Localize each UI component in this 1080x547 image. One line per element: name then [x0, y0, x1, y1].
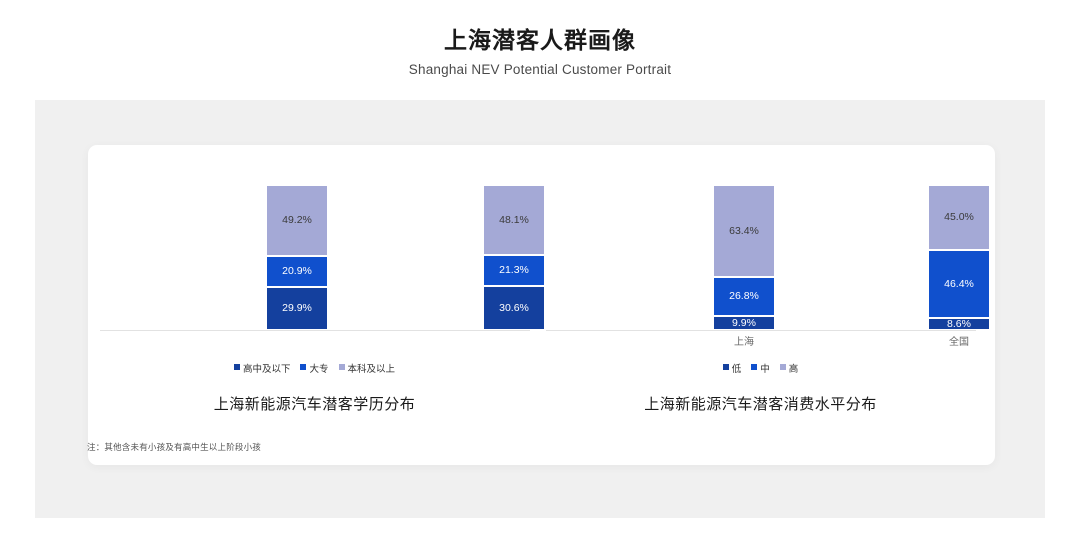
legend-swatch-icon [234, 364, 240, 370]
bar-value-label: 8.6% [947, 319, 971, 330]
plot-area-consumption: 63.4%26.8%9.9% 45.0%46.4%8.6% [538, 185, 983, 330]
legend-label: 中 [760, 364, 770, 375]
bar-group[interactable]: 49.2%20.9%29.9% [266, 185, 328, 330]
chart-caption: 上海新能源汽车潜客学历分布 [92, 393, 537, 414]
bar-group[interactable]: 45.0%46.4%8.6% [928, 185, 990, 330]
bar-segment[interactable]: 26.8% [713, 277, 775, 316]
bar-segment[interactable]: 48.1% [483, 185, 545, 255]
bar-segment[interactable]: 49.2% [266, 185, 328, 256]
bar-segment[interactable]: 20.9% [266, 256, 328, 286]
bar-value-label: 9.9% [732, 318, 756, 329]
bar-segment[interactable]: 63.4% [713, 185, 775, 277]
bar-segment[interactable]: 29.9% [266, 287, 328, 330]
legend-swatch-icon [723, 364, 729, 370]
chart-caption: 上海新能源汽车潜客消费水平分布 [538, 393, 983, 414]
chart-education: 49.2%20.9%29.9% 48.1%21.3%30.6% 高中及以下 大专… [92, 145, 537, 465]
bar-value-label: 45.0% [944, 212, 974, 223]
axis-line [100, 330, 530, 331]
legend-label: 高中及以下 [243, 364, 291, 375]
legend-label: 大专 [309, 364, 328, 375]
bar-segment[interactable]: 45.0% [928, 185, 990, 250]
bar-group[interactable]: 48.1%21.3%30.6% [483, 185, 545, 330]
chart-consumption: 63.4%26.8%9.9% 45.0%46.4%8.6% 上海 全国 低 中 … [538, 145, 983, 465]
page-header: 上海潜客人群画像 Shanghai NEV Potential Customer… [0, 0, 1080, 77]
bar-value-label: 21.3% [499, 265, 529, 276]
legend-item[interactable]: 低 [723, 361, 742, 375]
content-panel: 49.2%20.9%29.9% 48.1%21.3%30.6% 高中及以下 大专… [35, 100, 1045, 518]
legend-item[interactable]: 高中及以下 [234, 361, 291, 375]
footnote: 注：其他含未有小孩及有高中生以上阶段小孩 [87, 441, 261, 453]
bar-value-label: 26.8% [729, 291, 759, 302]
bar-value-label: 63.4% [729, 226, 759, 237]
legend-swatch-icon [751, 364, 757, 370]
category-label: 全国 [928, 333, 990, 348]
legend-item[interactable]: 大专 [300, 361, 328, 375]
charts-row: 49.2%20.9%29.9% 48.1%21.3%30.6% 高中及以下 大专… [88, 145, 995, 465]
page-title: 上海潜客人群画像 [0, 26, 1080, 55]
bar-value-label: 46.4% [944, 279, 974, 290]
charts-card: 49.2%20.9%29.9% 48.1%21.3%30.6% 高中及以下 大专… [88, 145, 995, 465]
page-subtitle: Shanghai NEV Potential Customer Portrait [0, 62, 1080, 77]
bar-segment[interactable]: 21.3% [483, 255, 545, 286]
plot-area-education: 49.2%20.9%29.9% 48.1%21.3%30.6% [92, 185, 537, 330]
bar-value-label: 49.2% [282, 215, 312, 226]
legend-consumption: 低 中 高 [538, 361, 983, 375]
bar-value-label: 30.6% [499, 303, 529, 314]
bar-segment[interactable]: 46.4% [928, 250, 990, 317]
legend-label: 高 [789, 364, 799, 375]
category-label: 上海 [713, 333, 775, 348]
legend-swatch-icon [780, 364, 786, 370]
legend-label: 本科及以上 [348, 364, 396, 375]
bar-value-label: 48.1% [499, 215, 529, 226]
bar-group[interactable]: 63.4%26.8%9.9% [713, 185, 775, 330]
bar-segment[interactable]: 30.6% [483, 286, 545, 330]
legend-item[interactable]: 本科及以上 [339, 361, 396, 375]
legend-item[interactable]: 高 [780, 361, 799, 375]
axis-line [546, 330, 976, 331]
bar-segment[interactable]: 8.6% [928, 318, 990, 330]
bar-value-label: 29.9% [282, 303, 312, 314]
legend-item[interactable]: 中 [751, 361, 770, 375]
legend-label: 低 [732, 364, 742, 375]
bar-segment[interactable]: 9.9% [713, 316, 775, 330]
legend-swatch-icon [339, 364, 345, 370]
legend-swatch-icon [300, 364, 306, 370]
legend-education: 高中及以下 大专 本科及以上 [92, 361, 537, 375]
bar-value-label: 20.9% [282, 266, 312, 277]
